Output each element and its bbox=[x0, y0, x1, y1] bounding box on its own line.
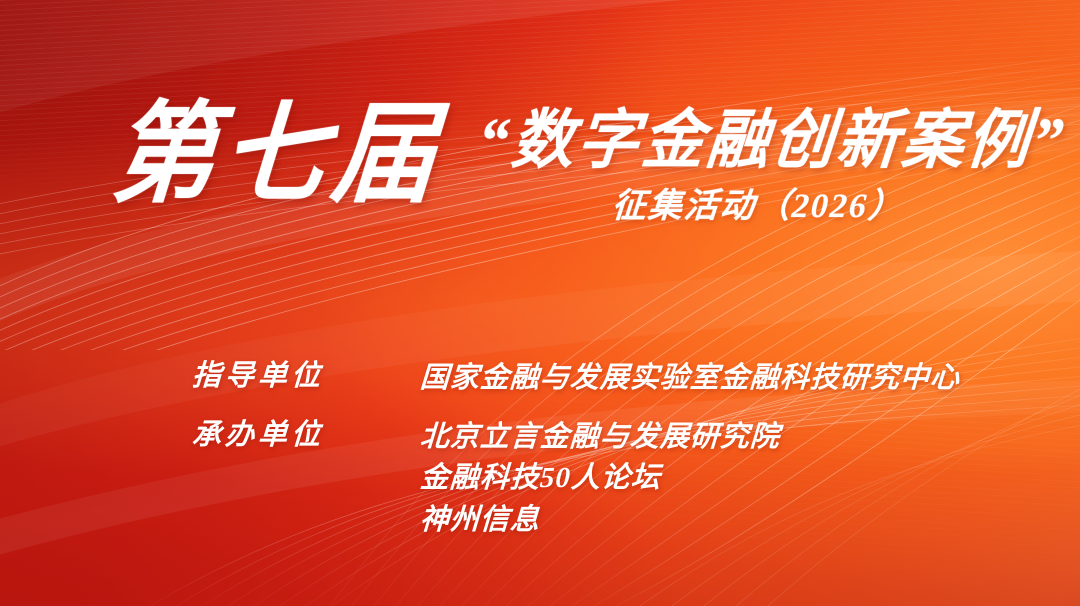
credit-values-guidance: 国家金融与发展实验室金融科技研究中心 bbox=[420, 358, 1032, 399]
credit-row-guidance: 指导单位 国家金融与发展实验室金融科技研究中心 bbox=[192, 358, 1032, 399]
credit-value-organizer-2: 神州信息 bbox=[419, 500, 1033, 541]
credit-value-guidance-0: 国家金融与发展实验室金融科技研究中心 bbox=[419, 358, 1033, 399]
edition-title: 第七届 bbox=[108, 101, 446, 211]
credit-label-guidance: 指导单位 bbox=[191, 358, 421, 396]
subtitle: 征集活动（2026） bbox=[611, 190, 905, 224]
theme-title: “数字金融创新案例” bbox=[475, 109, 1069, 173]
poster-content: 第七届 “数字金融创新案例” 征集活动（2026） 指导单位 国家金融与发展实验… bbox=[0, 0, 1080, 606]
event-poster: 第七届 “数字金融创新案例” 征集活动（2026） 指导单位 国家金融与发展实验… bbox=[0, 0, 1080, 606]
credits-block: 指导单位 国家金融与发展实验室金融科技研究中心 承办单位 北京立言金融与发展研究… bbox=[192, 358, 1032, 541]
credit-row-organizer: 承办单位 北京立言金融与发展研究院 金融科技50人论坛 神州信息 bbox=[192, 417, 1032, 541]
credit-value-organizer-0: 北京立言金融与发展研究院 bbox=[419, 417, 1033, 458]
credit-values-organizer: 北京立言金融与发展研究院 金融科技50人论坛 神州信息 bbox=[420, 417, 1032, 541]
credit-value-organizer-1: 金融科技50人论坛 bbox=[419, 458, 1033, 499]
headline-block: 第七届 “数字金融创新案例” 征集活动（2026） bbox=[0, 96, 1080, 256]
credit-label-organizer: 承办单位 bbox=[191, 417, 421, 455]
